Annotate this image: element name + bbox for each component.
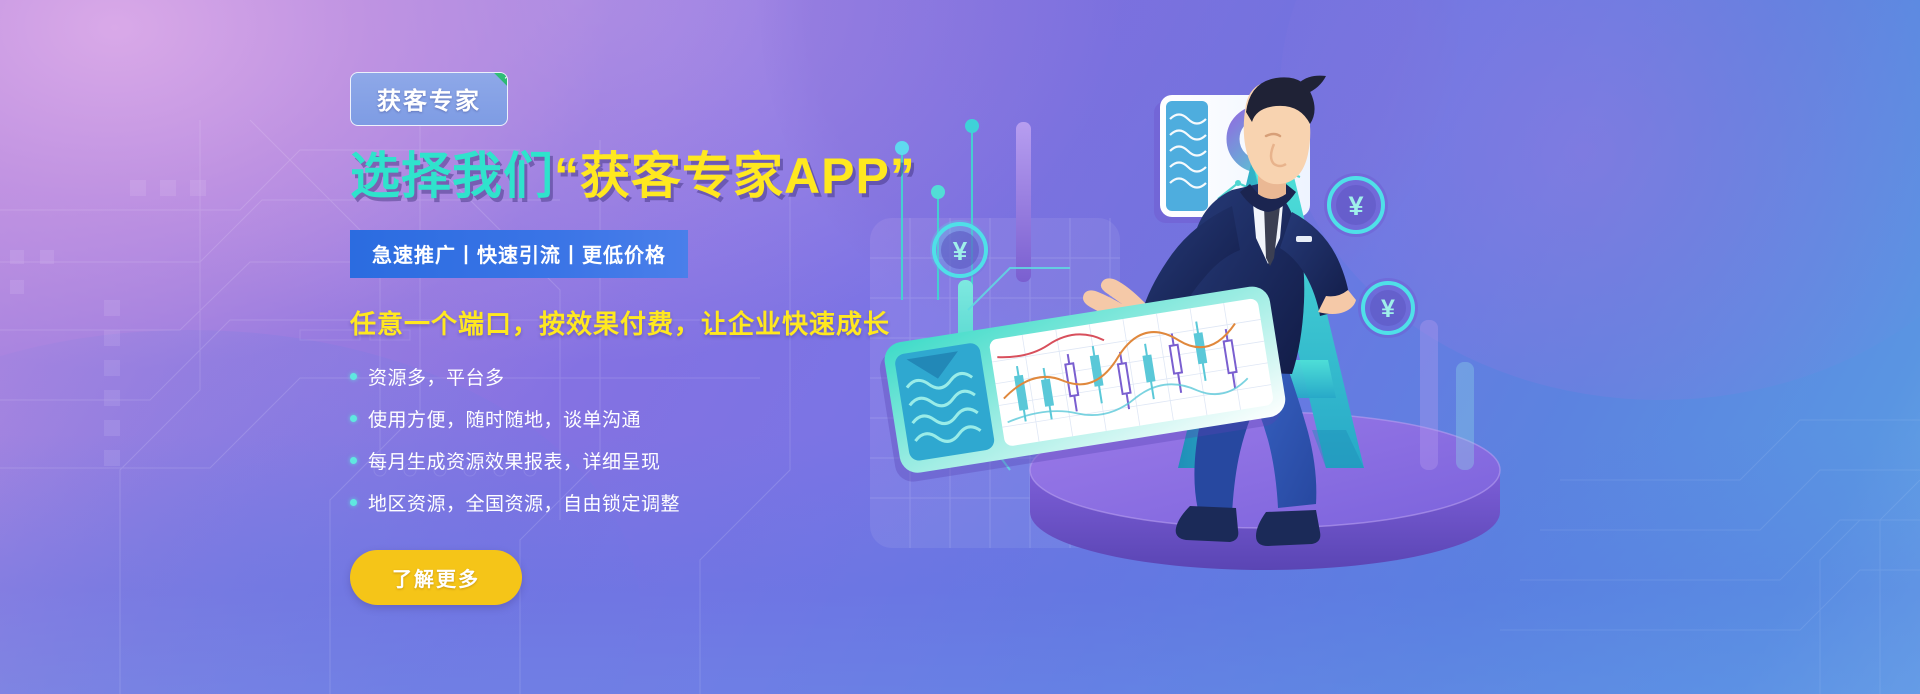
page-title: 选择我们“获客专家APP” bbox=[350, 149, 910, 204]
list-item: 每月生成资源效果报表，详细呈现 bbox=[350, 447, 910, 474]
svg-text:¥: ¥ bbox=[1348, 191, 1363, 221]
hero-illustration: ¥ ¥ ¥ bbox=[860, 0, 1920, 694]
feature-bar: 急速推广丨快速引流丨更低价格 bbox=[350, 230, 688, 278]
new-ribbon-label: NEW bbox=[491, 72, 508, 107]
banner-content: 获客专家 NEW 选择我们“获客专家APP” 急速推广丨快速引流丨更低价格 任意… bbox=[350, 72, 910, 605]
headline-primary: 选择我们 bbox=[350, 148, 554, 204]
learn-more-label: 了解更多 bbox=[392, 569, 480, 591]
yen-coin-icon: ¥ bbox=[1324, 173, 1388, 237]
list-item-label: 使用方便，随时随地，谈单沟通 bbox=[368, 405, 641, 432]
svg-text:¥: ¥ bbox=[953, 236, 968, 266]
bullet-dot-icon bbox=[350, 415, 357, 422]
list-item: 使用方便，随时随地，谈单沟通 bbox=[350, 405, 910, 432]
bullet-dot-icon bbox=[350, 373, 357, 380]
learn-more-button[interactable]: 了解更多 bbox=[350, 550, 522, 605]
tagline: 任意一个端口，按效果付费，让企业快速成长 bbox=[350, 304, 910, 341]
bullet-dot-icon bbox=[350, 499, 357, 506]
promo-banner: ¥ ¥ ¥ bbox=[0, 0, 1920, 694]
list-item: 地区资源，全国资源，自由锁定调整 bbox=[350, 489, 910, 516]
product-badge-label: 获客专家 bbox=[377, 88, 481, 115]
feature-list: 资源多，平台多 使用方便，随时随地，谈单沟通 每月生成资源效果报表，详细呈现 地… bbox=[350, 363, 910, 516]
list-item: 资源多，平台多 bbox=[350, 363, 910, 390]
yen-coin-icon: ¥ bbox=[1358, 278, 1418, 338]
list-item-label: 每月生成资源效果报表，详细呈现 bbox=[368, 447, 661, 474]
feature-bar-label: 急速推广丨快速引流丨更低价格 bbox=[372, 245, 666, 267]
headline-highlight: “获客专家APP” bbox=[554, 148, 916, 204]
product-badge[interactable]: 获客专家 NEW bbox=[350, 72, 508, 126]
svg-text:¥: ¥ bbox=[1381, 295, 1395, 323]
bullet-dot-icon bbox=[350, 457, 357, 464]
list-item-label: 地区资源，全国资源，自由锁定调整 bbox=[368, 489, 680, 516]
list-item-label: 资源多，平台多 bbox=[368, 363, 505, 390]
yen-coin-icon: ¥ bbox=[930, 220, 990, 280]
new-ribbon: NEW bbox=[469, 72, 508, 111]
